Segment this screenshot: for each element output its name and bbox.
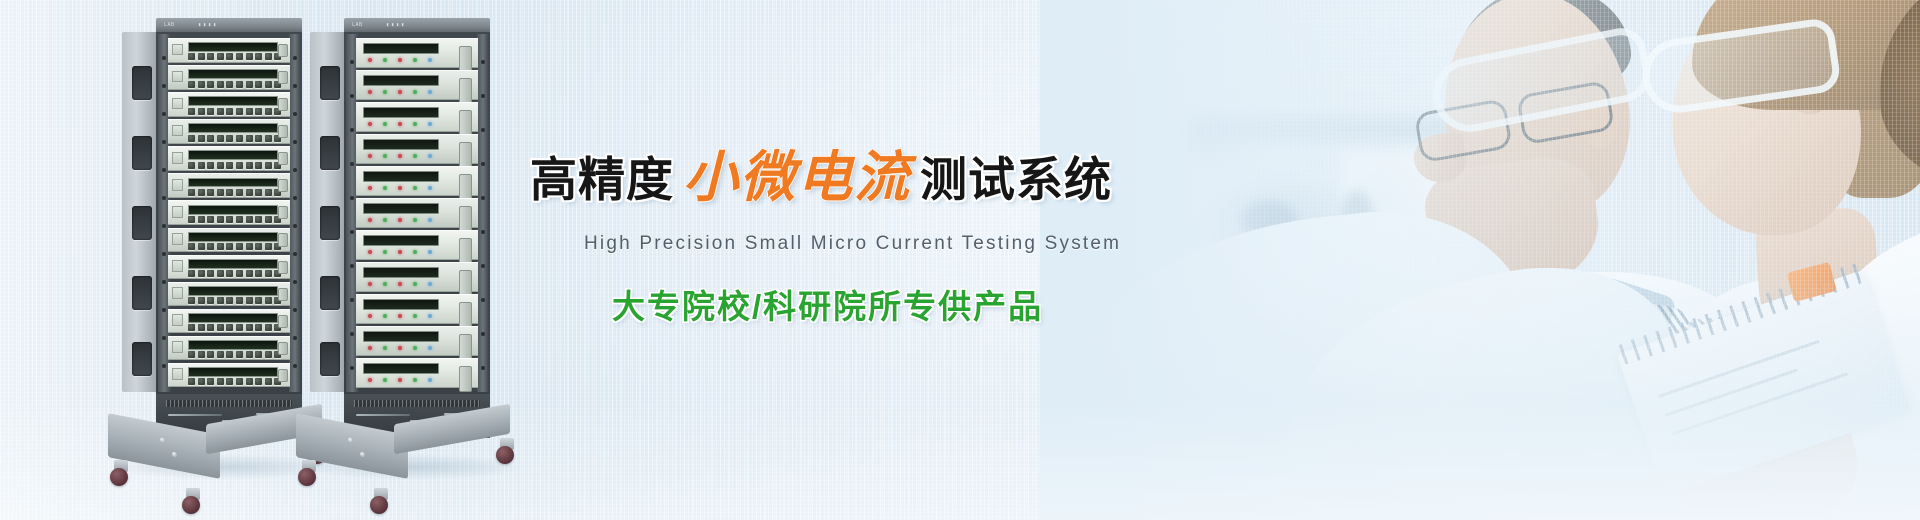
unit-terminal-button <box>255 135 262 142</box>
unit-terminal-button <box>226 351 233 358</box>
rack-model-label: ▮▮▮▮ <box>386 22 406 28</box>
unit-indicator-led <box>413 314 417 318</box>
product-banner: LAB ▮▮▮▮ <box>0 0 1920 520</box>
unit-terminal-button <box>217 81 224 88</box>
unit-indicator-led <box>398 346 402 350</box>
unit-indicator-led <box>428 122 432 126</box>
unit-knob <box>278 342 288 355</box>
rack-unit <box>356 70 478 100</box>
unit-indicator-led <box>428 314 432 318</box>
unit-terminal-button <box>246 378 253 385</box>
unit-terminal-button <box>255 162 262 169</box>
unit-terminal-button <box>188 162 195 169</box>
unit-indicator-led <box>398 378 402 382</box>
unit-terminal-button <box>217 162 224 169</box>
unit-indicator-led <box>428 218 432 222</box>
unit-indicator-led <box>428 90 432 94</box>
rack-unit <box>168 173 290 198</box>
unit-terminal-button <box>217 270 224 277</box>
unit-terminal-button <box>188 189 195 196</box>
unit-terminal-button <box>217 351 224 358</box>
unit-terminal-button <box>236 189 243 196</box>
unit-indicator-led <box>383 250 387 254</box>
unit-terminal-button <box>198 324 205 331</box>
unit-indicator-led <box>368 314 372 318</box>
unit-terminal-button <box>226 243 233 250</box>
unit-side-tag <box>172 314 183 326</box>
unit-terminal-button <box>255 351 262 358</box>
unit-indicator-led <box>368 282 372 286</box>
unit-terminal-button <box>255 243 262 250</box>
caster-wheel <box>182 496 200 514</box>
unit-terminal-button <box>265 378 272 385</box>
unit-terminal-button <box>236 135 243 142</box>
unit-terminal-strip <box>188 232 278 242</box>
title-segment-prefix: 高精度 <box>530 141 674 210</box>
unit-indicator-led <box>383 218 387 222</box>
unit-terminal-button <box>236 216 243 223</box>
caster-wheel <box>110 468 128 486</box>
unit-side-tag <box>172 287 183 299</box>
unit-knob <box>278 44 288 57</box>
unit-terminal-strip <box>188 367 278 377</box>
unit-terminal-button <box>188 324 195 331</box>
unit-terminal-button <box>198 297 205 304</box>
unit-terminal-button <box>236 324 243 331</box>
unit-knob <box>459 142 472 168</box>
unit-display <box>363 43 439 54</box>
rack-rail-right <box>289 34 301 392</box>
unit-terminal-button <box>255 270 262 277</box>
unit-knob <box>459 110 472 136</box>
unit-indicator-led <box>413 154 417 158</box>
unit-terminal-button <box>226 135 233 142</box>
unit-knob <box>459 78 472 104</box>
unit-indicator-led <box>368 186 372 190</box>
unit-display <box>363 363 439 374</box>
unit-terminal-button <box>255 81 262 88</box>
unit-knob <box>278 369 288 382</box>
unit-terminal-button <box>217 378 224 385</box>
unit-display <box>363 171 439 182</box>
unit-terminal-strip <box>188 178 278 188</box>
unit-terminal-button <box>246 81 253 88</box>
unit-terminal-button <box>265 324 272 331</box>
unit-terminal-button <box>265 270 272 277</box>
unit-terminal-button <box>246 297 253 304</box>
unit-display <box>363 107 439 118</box>
unit-terminal-button <box>188 53 195 60</box>
unit-terminal-button <box>226 53 233 60</box>
unit-terminal-button <box>246 108 253 115</box>
unit-terminal-strip <box>188 313 278 323</box>
rack-brand-label: LAB <box>164 22 175 28</box>
unit-terminal-button <box>255 108 262 115</box>
unit-terminal-button <box>265 53 272 60</box>
unit-terminal-button <box>188 270 195 277</box>
rack-unit <box>168 200 290 225</box>
unit-terminal-strip <box>188 150 278 160</box>
rack-vent-hole <box>320 276 340 310</box>
unit-display <box>363 299 439 310</box>
unit-indicator-led <box>413 58 417 62</box>
banner-title: 高精度 小微电流 测试系统 <box>530 132 1230 212</box>
unit-indicator-led <box>383 58 387 62</box>
unit-indicator-led <box>413 282 417 286</box>
unit-terminal-button <box>207 324 214 331</box>
unit-terminal-button <box>217 53 224 60</box>
unit-terminal-button <box>198 378 205 385</box>
unit-terminal-button <box>236 53 243 60</box>
unit-knob <box>278 179 288 192</box>
rack-unit <box>168 255 290 280</box>
unit-indicator-led <box>413 218 417 222</box>
rack-unit <box>356 198 478 228</box>
unit-indicator-led <box>368 58 372 62</box>
unit-terminal-button <box>207 216 214 223</box>
unit-indicator-led <box>413 378 417 382</box>
unit-knob <box>459 334 472 360</box>
rack-rail-right <box>477 34 489 392</box>
unit-terminal-button <box>255 297 262 304</box>
banner-subtitle-en: High Precision Small Micro Current Testi… <box>530 233 1230 255</box>
unit-indicator-led <box>398 154 402 158</box>
unit-indicator-led <box>428 58 432 62</box>
unit-terminal-button <box>265 189 272 196</box>
unit-indicator-led <box>428 282 432 286</box>
unit-indicator-led <box>413 186 417 190</box>
unit-terminal-button <box>188 216 195 223</box>
unit-terminal-button <box>265 297 272 304</box>
unit-terminal-button <box>255 324 262 331</box>
unit-terminal-button <box>226 216 233 223</box>
unit-terminal-button <box>217 324 224 331</box>
unit-indicator-led <box>383 314 387 318</box>
unit-terminal-button <box>188 378 195 385</box>
unit-knob <box>278 206 288 219</box>
unit-terminal-button <box>188 351 195 358</box>
rack-model-label: ▮▮▮▮ <box>198 22 218 28</box>
unit-terminal-button <box>226 162 233 169</box>
unit-terminal-button <box>198 351 205 358</box>
unit-terminal-button <box>236 81 243 88</box>
unit-knob <box>278 315 288 328</box>
unit-terminal-button <box>246 189 253 196</box>
unit-display <box>363 267 439 278</box>
unit-terminal-button <box>198 53 205 60</box>
rack-unit <box>168 228 290 253</box>
unit-side-tag <box>172 341 183 353</box>
unit-terminal-button <box>207 297 214 304</box>
unit-terminal-strip <box>188 42 278 52</box>
unit-terminal-button <box>246 243 253 250</box>
banner-tagline: 大专院校/科研院所专供产品 <box>530 280 1230 328</box>
title-segment-suffix: 测试系统 <box>920 141 1112 210</box>
unit-terminal-button <box>226 270 233 277</box>
unit-terminal-strip <box>188 340 278 350</box>
rack-vent-hole <box>132 276 152 310</box>
unit-terminal-button <box>217 243 224 250</box>
rack-cabinets: LAB ▮▮▮▮ <box>0 0 520 520</box>
unit-indicator-led <box>428 378 432 382</box>
unit-indicator-led <box>428 250 432 254</box>
unit-terminal-button <box>236 270 243 277</box>
rack-unit <box>356 326 478 356</box>
unit-terminal-button <box>198 216 205 223</box>
unit-terminal-button <box>246 216 253 223</box>
unit-indicator-led <box>398 282 402 286</box>
unit-terminal-button <box>226 108 233 115</box>
unit-indicator-led <box>413 346 417 350</box>
unit-terminal-button <box>188 135 195 142</box>
unit-terminal-button <box>246 351 253 358</box>
unit-terminal-button <box>246 324 253 331</box>
rack-unit <box>356 166 478 196</box>
unit-terminal-button <box>198 189 205 196</box>
rack-unit <box>356 102 478 132</box>
unit-terminal-button <box>265 351 272 358</box>
title-segment-highlight: 小微电流 <box>683 132 911 212</box>
unit-terminal-button <box>217 189 224 196</box>
banner-copy: 高精度 小微电流 测试系统 High Precision Small Micro… <box>530 132 1230 328</box>
unit-indicator-led <box>368 218 372 222</box>
unit-knob <box>459 206 472 232</box>
unit-indicator-led <box>383 90 387 94</box>
unit-terminal-button <box>217 216 224 223</box>
unit-indicator-led <box>368 154 372 158</box>
unit-knob <box>278 125 288 138</box>
unit-indicator-led <box>383 122 387 126</box>
rack-vent-hole <box>320 342 340 376</box>
unit-display <box>363 331 439 342</box>
rack-cable <box>356 414 410 416</box>
unit-indicator-led <box>398 314 402 318</box>
unit-knob <box>459 174 472 200</box>
unit-terminal-button <box>226 297 233 304</box>
unit-indicator-led <box>398 218 402 222</box>
unit-terminal-button <box>188 297 195 304</box>
unit-terminal-button <box>207 243 214 250</box>
unit-knob <box>459 366 472 392</box>
unit-knob <box>278 152 288 165</box>
rack-vent-grille <box>354 400 480 407</box>
caster-wheel <box>370 496 388 514</box>
unit-knob <box>278 288 288 301</box>
rack-unit <box>168 65 290 90</box>
unit-terminal-button <box>265 243 272 250</box>
unit-terminal-button <box>226 324 233 331</box>
unit-indicator-led <box>368 250 372 254</box>
unit-display <box>363 75 439 86</box>
unit-terminal-button <box>236 297 243 304</box>
unit-terminal-button <box>236 243 243 250</box>
female-scientist-back <box>1880 0 1920 520</box>
unit-terminal-button <box>217 297 224 304</box>
unit-knob <box>459 238 472 264</box>
unit-terminal-button <box>226 189 233 196</box>
rack-vent-hole <box>132 66 152 100</box>
unit-side-tag <box>172 125 183 137</box>
rack-vent-grille <box>166 400 292 407</box>
unit-terminal-button <box>255 189 262 196</box>
unit-terminal-button <box>198 108 205 115</box>
unit-terminal-button <box>207 135 214 142</box>
unit-terminal-button <box>255 378 262 385</box>
unit-terminal-button <box>198 243 205 250</box>
rack-vent-hole <box>320 66 340 100</box>
rack-unit <box>356 38 478 68</box>
unit-terminal-button <box>188 243 195 250</box>
unit-terminal-button <box>265 135 272 142</box>
unit-terminal-button <box>246 135 253 142</box>
rack-cable <box>168 414 222 416</box>
unit-indicator-led <box>383 378 387 382</box>
unit-terminal-button <box>265 108 272 115</box>
unit-terminal-button <box>207 189 214 196</box>
unit-terminal-button <box>207 108 214 115</box>
unit-terminal-button <box>207 351 214 358</box>
unit-terminal-button <box>246 162 253 169</box>
unit-indicator-led <box>368 90 372 94</box>
unit-indicator-led <box>383 186 387 190</box>
unit-knob <box>278 233 288 246</box>
unit-indicator-led <box>398 90 402 94</box>
rack-unit <box>356 294 478 324</box>
unit-terminal-button <box>217 135 224 142</box>
rack-vent-hole <box>132 206 152 240</box>
unit-terminal-button <box>207 162 214 169</box>
unit-indicator-led <box>413 90 417 94</box>
rack-unit <box>168 38 290 63</box>
unit-terminal-button <box>246 270 253 277</box>
unit-indicator-led <box>368 122 372 126</box>
caster-wheel <box>298 468 316 486</box>
unit-indicator-led <box>368 378 372 382</box>
rack-unit <box>356 230 478 260</box>
unit-indicator-led <box>413 250 417 254</box>
rack-right: LAB ▮▮▮▮ <box>310 18 490 488</box>
hair <box>1880 0 1920 190</box>
unit-display <box>363 139 439 150</box>
unit-terminal-button <box>236 351 243 358</box>
unit-indicator-led <box>428 186 432 190</box>
unit-terminal-strip <box>188 286 278 296</box>
unit-indicator-led <box>368 346 372 350</box>
rack-brand-label: LAB <box>352 22 363 28</box>
unit-knob <box>459 46 472 72</box>
rack-unit <box>356 134 478 164</box>
unit-side-tag <box>172 98 183 110</box>
unit-indicator-led <box>398 122 402 126</box>
unit-knob <box>278 71 288 84</box>
unit-terminal-button <box>217 108 224 115</box>
unit-terminal-button <box>236 108 243 115</box>
rack-unit <box>168 92 290 117</box>
unit-side-tag <box>172 152 183 164</box>
unit-indicator-led <box>398 250 402 254</box>
unit-terminal-button <box>226 81 233 88</box>
unit-terminal-button <box>255 53 262 60</box>
unit-indicator-led <box>398 58 402 62</box>
unit-terminal-strip <box>188 96 278 106</box>
unit-terminal-button <box>265 216 272 223</box>
unit-indicator-led <box>398 186 402 190</box>
rack-unit <box>168 119 290 144</box>
unit-terminal-button <box>236 378 243 385</box>
unit-terminal-strip <box>188 205 278 215</box>
unit-terminal-button <box>236 162 243 169</box>
unit-display <box>363 203 439 214</box>
unit-terminal-strip <box>188 259 278 269</box>
unit-terminal-button <box>246 53 253 60</box>
rack-unit <box>168 336 290 361</box>
rack-vent-hole <box>132 342 152 376</box>
unit-side-tag <box>172 233 183 245</box>
unit-indicator-led <box>428 346 432 350</box>
unit-terminal-button <box>198 162 205 169</box>
rack-unit <box>168 146 290 171</box>
unit-indicator-led <box>383 282 387 286</box>
unit-side-tag <box>172 206 183 218</box>
unit-indicator-led <box>383 154 387 158</box>
unit-terminal-button <box>198 81 205 88</box>
rack-vent-hole <box>320 136 340 170</box>
unit-side-tag <box>172 368 183 380</box>
unit-indicator-led <box>428 154 432 158</box>
rack-left: LAB ▮▮▮▮ <box>122 18 302 488</box>
unit-side-tag <box>172 44 183 56</box>
unit-side-tag <box>172 179 183 191</box>
unit-knob <box>459 270 472 296</box>
unit-indicator-led <box>413 122 417 126</box>
unit-knob <box>278 261 288 274</box>
unit-terminal-button <box>207 53 214 60</box>
unit-terminal-button <box>198 135 205 142</box>
unit-knob <box>278 98 288 111</box>
unit-terminal-button <box>255 216 262 223</box>
unit-terminal-button <box>188 81 195 88</box>
rack-unit <box>356 358 478 388</box>
rack-unit <box>168 282 290 307</box>
unit-terminal-button <box>207 378 214 385</box>
unit-display <box>363 235 439 246</box>
unit-terminal-button <box>198 270 205 277</box>
unit-side-tag <box>172 260 183 272</box>
notebook-line <box>1665 368 1798 416</box>
unit-terminal-button <box>226 378 233 385</box>
rack-unit <box>356 262 478 292</box>
rack-vent-hole <box>320 206 340 240</box>
unit-indicator-led <box>383 346 387 350</box>
rack-unit <box>168 309 290 334</box>
rack-vent-hole <box>132 136 152 170</box>
unit-terminal-strip <box>188 69 278 79</box>
unit-side-tag <box>172 71 183 83</box>
unit-terminal-button <box>265 81 272 88</box>
unit-knob <box>459 302 472 328</box>
caster-wheel <box>496 446 514 464</box>
unit-terminal-button <box>188 108 195 115</box>
unit-terminal-strip <box>188 123 278 133</box>
unit-terminal-button <box>265 162 272 169</box>
unit-terminal-button <box>207 270 214 277</box>
unit-terminal-button <box>207 81 214 88</box>
rack-unit <box>168 363 290 388</box>
